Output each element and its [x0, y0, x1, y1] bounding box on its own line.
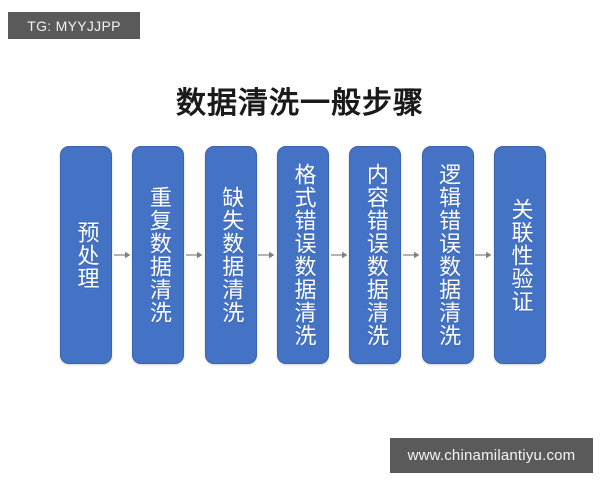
flow-arrow-3	[257, 146, 277, 364]
flow-step-label: 内容错误数据清洗	[363, 163, 388, 347]
flow-step-label: 预处理	[73, 221, 98, 290]
flow-step-label: 逻辑错误数据清洗	[435, 163, 460, 347]
arrow-right-icon	[186, 250, 203, 260]
site-watermark-label: www.chinamilantiyu.com	[408, 447, 576, 464]
tg-badge: TG: MYYJJPP	[8, 12, 140, 39]
flow-step-4[interactable]: 格式错误数据清洗	[277, 146, 329, 364]
arrow-right-icon	[258, 250, 275, 260]
flow-step-1[interactable]: 预处理	[60, 146, 112, 364]
arrow-right-icon	[475, 250, 492, 260]
arrow-right-icon	[331, 250, 348, 260]
flow-arrow-4	[329, 146, 349, 364]
flow-step-label: 重复数据清洗	[146, 186, 171, 324]
flow-step-label: 格式错误数据清洗	[290, 163, 315, 347]
flow-step-label: 关联性验证	[507, 198, 532, 313]
site-watermark: www.chinamilantiyu.com	[390, 438, 593, 473]
flow-step-5[interactable]: 内容错误数据清洗	[349, 146, 401, 364]
flow-step-2[interactable]: 重复数据清洗	[132, 146, 184, 364]
flow-step-label: 缺失数据清洗	[218, 186, 243, 324]
flow-step-7[interactable]: 关联性验证	[494, 146, 546, 364]
page-title: 数据清洗一般步骤	[0, 78, 600, 122]
flow-diagram: 预处理 重复数据清洗 缺失数据清洗 格式错误数据清洗 内容错误数	[60, 146, 546, 364]
flow-step-6[interactable]: 逻辑错误数据清洗	[422, 146, 474, 364]
flow-arrow-1	[112, 146, 132, 364]
flow-arrow-5	[401, 146, 421, 364]
flow-arrow-2	[184, 146, 204, 364]
arrow-right-icon	[114, 250, 131, 260]
flow-step-3[interactable]: 缺失数据清洗	[205, 146, 257, 364]
arrow-right-icon	[403, 250, 420, 260]
flow-arrow-6	[474, 146, 494, 364]
tg-badge-label: TG: MYYJJPP	[27, 18, 121, 34]
